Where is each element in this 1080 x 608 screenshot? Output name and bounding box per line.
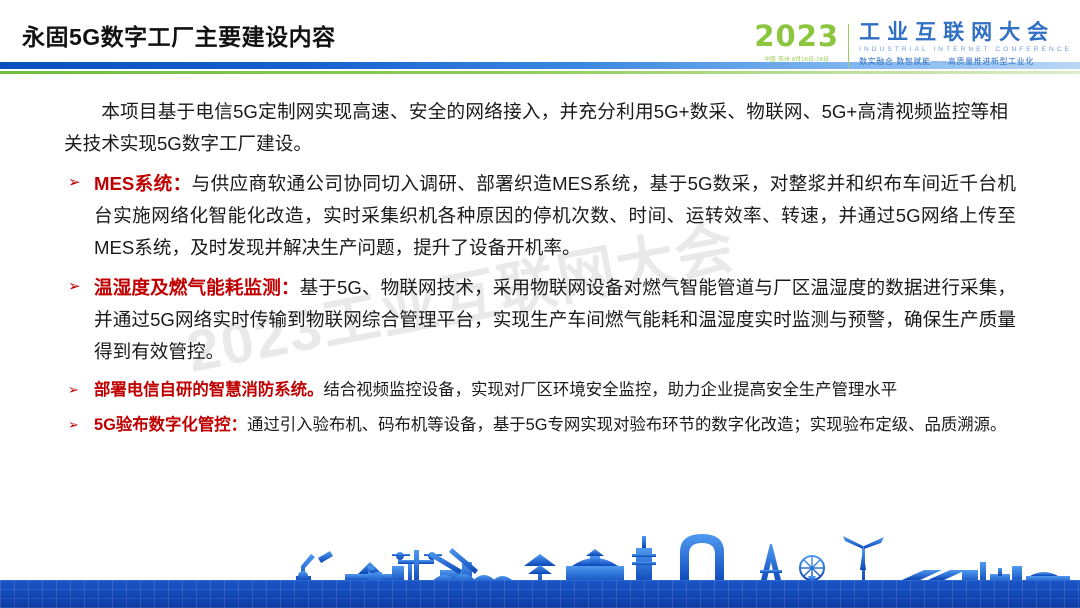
logo-year: 2023 <box>754 22 839 51</box>
bullet-heading: MES系统： <box>94 173 192 194</box>
list-item: ➢ MES系统：与供应商软通公司协同切入调研、部署织造MES系统，基于5G数采，… <box>64 168 1016 265</box>
logo-year-block: 2023 中国·苏州 8月16日-18日 <box>754 22 848 63</box>
arrow-bullet-icon: ➢ <box>68 275 81 299</box>
slide-header: 永固5G数字工厂主要建设内容 2023 中国·苏州 8月16日-18日 工业互联… <box>0 0 1080 92</box>
conference-logo: 2023 中国·苏州 8月16日-18日 工业互联网大会 INDUSTRIAL … <box>754 22 1072 78</box>
intro-paragraph: 本项目基于电信5G定制网实现高速、安全的网络接入，并充分利用5G+数采、物联网、… <box>64 96 1008 161</box>
logo-tagline: 数实融合 数智赋能——高质量推进新型工业化 <box>859 56 1072 67</box>
footer-graphic <box>0 534 1080 608</box>
bullet-text: 与供应商软通公司协同切入调研、部署织造MES系统，基于5G数采，对整浆并和织布车… <box>94 173 1016 259</box>
logo-date-location: 中国·苏州 8月16日-18日 <box>764 55 829 63</box>
slide-body: 本项目基于电信5G定制网实现高速、安全的网络接入，并充分利用5G+数采、物联网、… <box>0 96 1080 440</box>
list-item: ➢ 温湿度及燃气能耗监测：基于5G、物联网技术，采用物联网设备对燃气智能管道与厂… <box>64 272 1016 369</box>
city-industry-skyline-icon <box>0 532 1080 584</box>
footer-ground-band <box>0 580 1080 608</box>
bullet-text: 通过引入验布机、码布机等设备，基于5G专网实现对验布环节的数字化改造；实现验布定… <box>247 416 1006 434</box>
arrow-bullet-icon: ➢ <box>68 380 79 401</box>
logo-name-cn: 工业互联网大会 <box>859 22 1072 44</box>
slide: 永固5G数字工厂主要建设内容 2023 中国·苏州 8月16日-18日 工业互联… <box>0 0 1080 608</box>
arrow-bullet-icon: ➢ <box>68 171 81 195</box>
page-title: 永固5G数字工厂主要建设内容 <box>22 18 336 52</box>
bullet-heading: 温湿度及燃气能耗监测： <box>94 277 300 298</box>
arrow-bullet-icon: ➢ <box>68 415 79 436</box>
bullet-heading: 部署电信自研的智慧消防系统。 <box>94 381 323 399</box>
logo-name-block: 工业互联网大会 INDUSTRIAL INTERNET CONFERENCE 数… <box>849 22 1072 67</box>
list-item: ➢ 部署电信自研的智慧消防系统。结合视频监控设备，实现对厂区环境安全监控，助力企… <box>64 376 1016 405</box>
list-item: ➢ 5G验布数字化管控：通过引入验布机、码布机等设备，基于5G专网实现对验布环节… <box>64 411 1016 440</box>
bullet-heading: 5G验布数字化管控： <box>94 416 247 434</box>
bullet-text: 结合视频监控设备，实现对厂区环境安全监控，助力企业提高安全生产管理水平 <box>323 381 897 399</box>
logo-name-en: INDUSTRIAL INTERNET CONFERENCE <box>859 46 1072 53</box>
